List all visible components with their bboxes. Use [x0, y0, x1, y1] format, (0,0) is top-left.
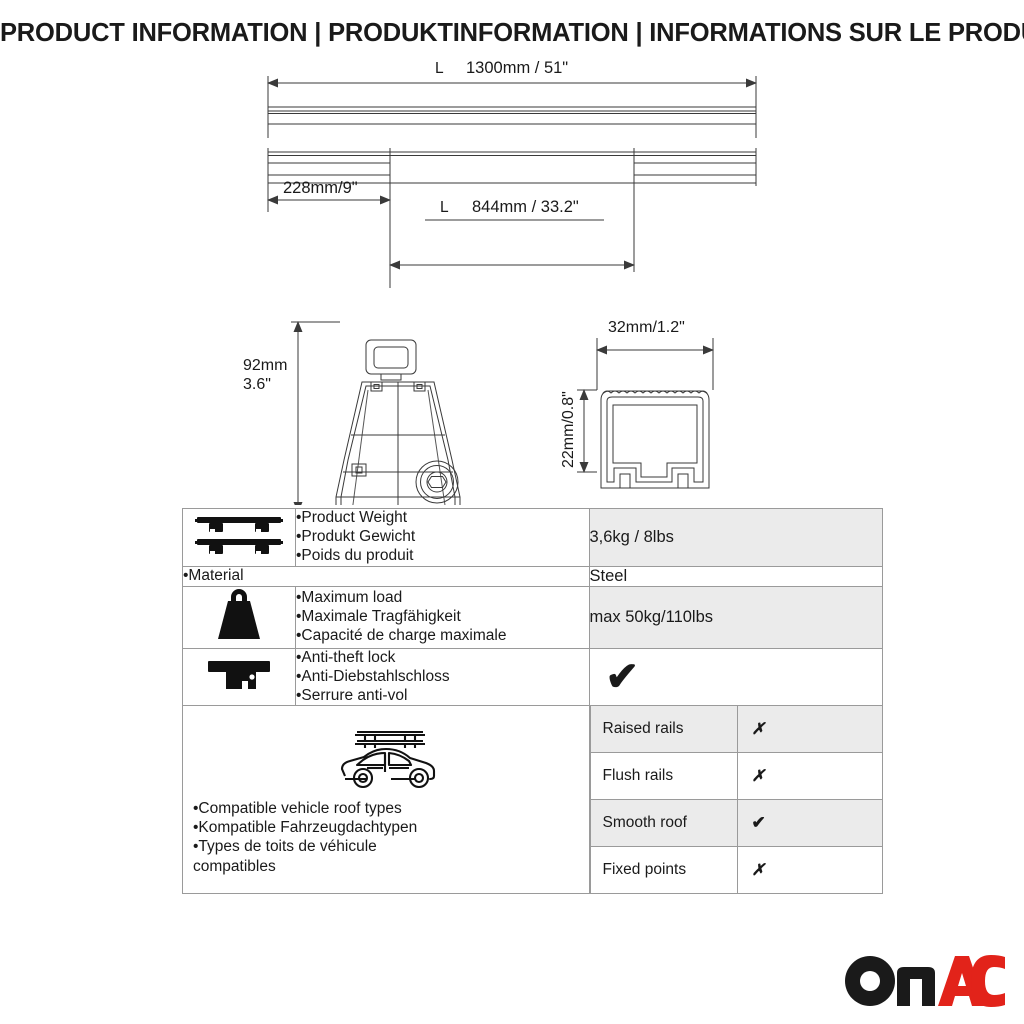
- label-line-de: •Maximale Tragfähigkeit: [296, 608, 589, 627]
- roof-row-flush-rails: Flush rails ✗: [590, 753, 882, 800]
- logo-letter-m: [897, 967, 935, 1006]
- car-with-roofbars-icon: [183, 724, 589, 795]
- label-line-fr: •Types de toits de véhicule: [193, 837, 589, 856]
- lock-icon: [204, 682, 274, 699]
- cross-mark-icon: ✗: [752, 721, 765, 738]
- value-maximum-load: max 50kg/110lbs: [589, 586, 883, 648]
- roof-row-smooth-roof: Smooth roof ✔: [590, 800, 882, 847]
- lock-icon-cell: [183, 648, 296, 706]
- dim-profile-height: 22mm/0.8": [560, 391, 577, 468]
- crossbar-pair-icon-cell: [183, 509, 296, 567]
- label-line-en: •Product Weight: [296, 509, 589, 528]
- weight-icon: [213, 630, 265, 647]
- label-line-fr: •Capacité de charge maximale: [296, 627, 589, 646]
- logo-letter-o: [845, 956, 895, 1006]
- label-line-fr: •Serrure anti-vol: [296, 687, 589, 706]
- dim-bar-length-symbol: L: [435, 60, 444, 77]
- label-maximum-load: •Maximum load •Maximale Tragfähigkeit •C…: [296, 586, 590, 648]
- cross-mark-icon: ✗: [752, 768, 765, 785]
- roof-types-matrix: Raised rails ✗ Flush rails ✗: [589, 706, 883, 894]
- check-mark-icon: ✔: [752, 813, 766, 832]
- label-line-fr: •Poids du produit: [296, 547, 589, 566]
- roof-mark-smooth-roof: ✔: [737, 800, 882, 847]
- product-information-page: PRODUCT INFORMATION | PRODUKTINFORMATION…: [0, 0, 1024, 1024]
- label-line-en: •Maximum load: [296, 589, 589, 608]
- roof-mark-raised-rails: ✗: [737, 706, 882, 753]
- label-line-de: •Produkt Gewicht: [296, 528, 589, 547]
- dim-span-symbol: L: [440, 199, 449, 216]
- dim-span-value: 844mm / 33.2": [472, 198, 579, 216]
- cross-mark-icon: ✗: [752, 862, 765, 879]
- roof-type-table: Raised rails ✗ Flush rails ✗: [590, 706, 883, 893]
- label-line-en: •Material: [183, 567, 589, 586]
- label-line-fr-cont: compatibles: [193, 857, 589, 876]
- value-anti-theft-lock: ✔: [589, 648, 883, 706]
- value-material: Steel: [589, 566, 883, 586]
- dim-end-offset: 228mm/9": [283, 179, 358, 197]
- label-line-en: •Anti-theft lock: [296, 649, 589, 668]
- label-material: •Material: [183, 566, 590, 586]
- roof-mark-flush-rails: ✗: [737, 753, 882, 800]
- omac-logo: [845, 955, 1005, 1007]
- label-line-en: •Compatible vehicle roof types: [193, 799, 589, 818]
- label-anti-theft-lock: •Anti-theft lock •Anti-Diebstahlschloss …: [296, 648, 590, 706]
- technical-drawing: L 1300mm / 51" 228mm/9" L 844mm / 33.2" …: [0, 60, 1024, 505]
- roof-types-text: •Compatible vehicle roof types •Kompatib…: [183, 799, 589, 877]
- page-title: PRODUCT INFORMATION | PRODUKTINFORMATION…: [0, 19, 1024, 48]
- roof-name-fixed-points: Fixed points: [590, 847, 737, 894]
- specification-table: •Product Weight •Produkt Gewicht •Poids …: [182, 508, 883, 894]
- table-row-anti-theft-lock: •Anti-theft lock •Anti-Diebstahlschloss …: [183, 648, 883, 706]
- label-product-weight: •Product Weight •Produkt Gewicht •Poids …: [296, 509, 590, 567]
- roof-row-fixed-points: Fixed points ✗: [590, 847, 882, 894]
- value-product-weight: 3,6kg / 8lbs: [589, 509, 883, 567]
- roof-name-raised-rails: Raised rails: [590, 706, 737, 753]
- roof-name-smooth-roof: Smooth roof: [590, 800, 737, 847]
- roof-mark-fixed-points: ✗: [737, 847, 882, 894]
- table-row-roof-types: •Compatible vehicle roof types •Kompatib…: [183, 706, 883, 894]
- crossbar-pair-icon: [193, 546, 285, 563]
- label-line-de: •Anti-Diebstahlschloss: [296, 668, 589, 687]
- dim-foot-height-line2: 3.6": [243, 376, 271, 393]
- roof-row-raised-rails: Raised rails ✗: [590, 706, 882, 753]
- dim-bar-length-value: 1300mm / 51": [466, 60, 568, 77]
- table-row-product-weight: •Product Weight •Produkt Gewicht •Poids …: [183, 509, 883, 567]
- dim-profile-width: 32mm/1.2": [608, 319, 685, 336]
- check-mark-icon: ✔: [590, 651, 883, 703]
- label-line-de: •Kompatible Fahrzeugdachtypen: [193, 818, 589, 837]
- logo-letter-c: [971, 955, 1005, 1007]
- label-roof-types: •Compatible vehicle roof types •Kompatib…: [183, 706, 590, 894]
- dim-foot-height-line1: 92mm: [243, 357, 287, 374]
- weight-icon-cell: [183, 586, 296, 648]
- table-row-maximum-load: •Maximum load •Maximale Tragfähigkeit •C…: [183, 586, 883, 648]
- table-row-material: •Material Steel: [183, 566, 883, 586]
- roof-name-flush-rails: Flush rails: [590, 753, 737, 800]
